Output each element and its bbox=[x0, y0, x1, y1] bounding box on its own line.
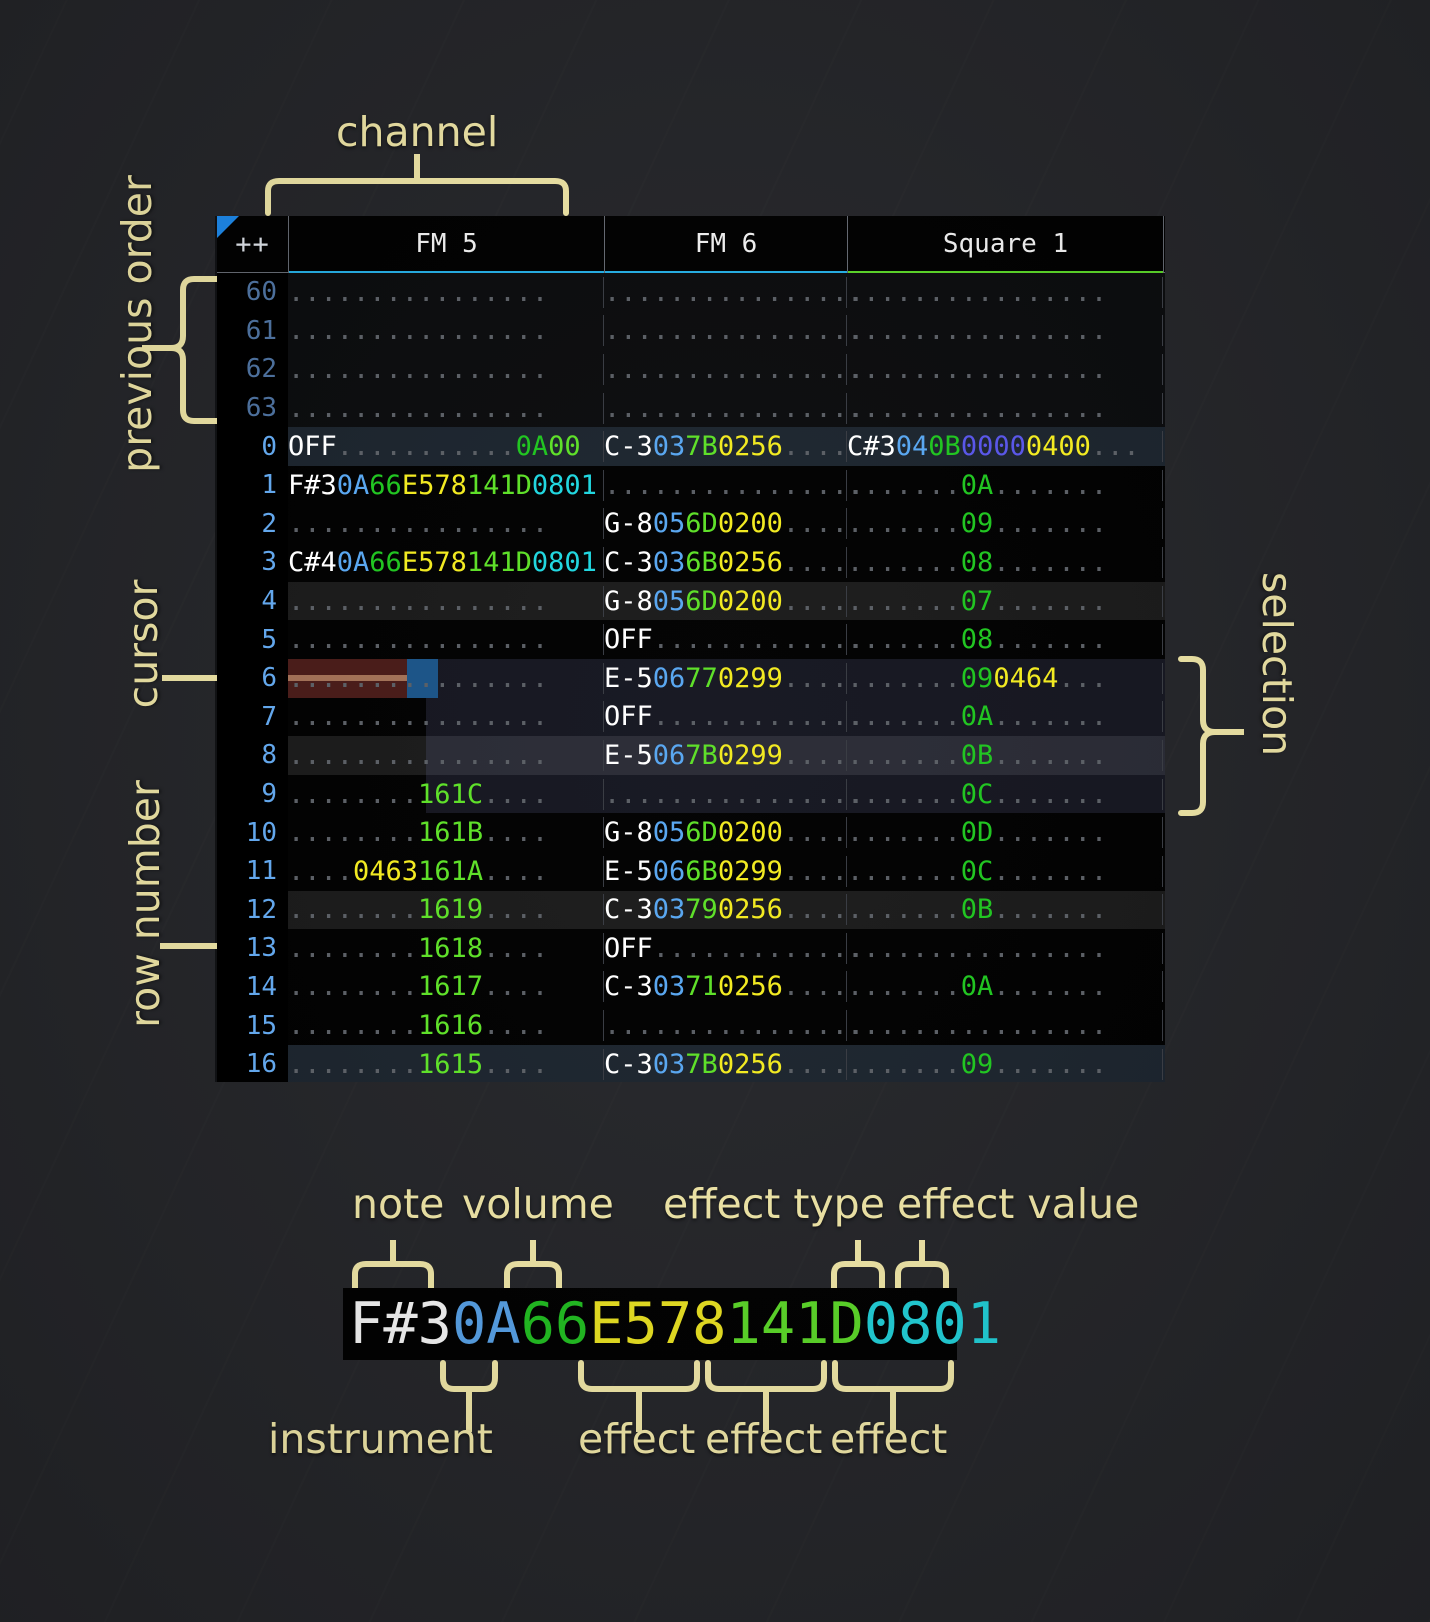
row-number: 6 bbox=[217, 663, 288, 693]
pattern-cell[interactable]: E-5067B0299.... bbox=[604, 740, 847, 771]
cell-token-instrument: 0A bbox=[337, 470, 370, 501]
cell-token-instrument: 04 bbox=[896, 431, 929, 462]
cell-token-effect_yellow: 0463 bbox=[353, 856, 418, 887]
cell-token-dots: ................ bbox=[288, 315, 548, 346]
cell-token-dots: .... bbox=[483, 779, 548, 810]
pattern-cell[interactable]: ................ bbox=[604, 779, 847, 810]
cell-token-effect_green: 141D bbox=[467, 547, 532, 578]
pattern-row[interactable]: 0OFF...........0A00C-3037B0256....C#3040… bbox=[217, 427, 1165, 466]
cell-token-dots: ....... bbox=[847, 586, 961, 617]
pattern-cell[interactable]: OFF...........0A00 bbox=[288, 431, 604, 462]
cell-token-instrument: 0A bbox=[337, 547, 370, 578]
pattern-row[interactable]: 13........1618....OFF...................… bbox=[217, 929, 1165, 968]
pattern-cell[interactable]: ................ bbox=[604, 277, 847, 308]
cell-token-note: F#3 bbox=[288, 470, 337, 501]
cell-token-instrument: 06 bbox=[653, 740, 686, 771]
row-number: 9 bbox=[217, 779, 288, 809]
cell-token-effect_green: 77 bbox=[685, 663, 718, 694]
annotation-previous-order: previous order bbox=[113, 174, 161, 474]
cell-token-effect_yellow: 0256 bbox=[718, 971, 783, 1002]
cell-token-note: E-5 bbox=[604, 663, 653, 694]
row-number: 63 bbox=[217, 393, 288, 423]
cell-token-dots: .... bbox=[783, 817, 848, 848]
cell-token-volume: 07 bbox=[961, 586, 994, 617]
cell-token-volume: 0A bbox=[961, 470, 994, 501]
row-number: 4 bbox=[217, 586, 288, 616]
cell-token-dots: .... bbox=[783, 663, 848, 694]
cell-token-note: E-5 bbox=[604, 740, 653, 771]
cell-token-instrument: 05 bbox=[653, 586, 686, 617]
annotation-row-number: row number bbox=[121, 764, 169, 1044]
cell-token-effect_yellow: 0256 bbox=[718, 1049, 783, 1080]
pattern-cell[interactable]: ....0463161A.... bbox=[288, 856, 604, 887]
cell-token-effect_green: 7B bbox=[685, 1049, 718, 1080]
cell-token-dots: ................ bbox=[847, 1010, 1107, 1041]
pattern-cell[interactable]: ................ bbox=[288, 624, 604, 655]
pattern-row[interactable]: 61......................................… bbox=[217, 312, 1165, 351]
cell-token-effect_yellow: 0299 bbox=[718, 856, 783, 887]
pattern-cell[interactable]: G-8056D0200.... bbox=[604, 508, 847, 539]
cell-token-effect_green: 71 bbox=[685, 971, 718, 1002]
pattern-row[interactable]: 6................E-506770299...........0… bbox=[217, 659, 1165, 698]
row-number: 14 bbox=[217, 972, 288, 1002]
cell-token-effect_green: 1617 bbox=[418, 971, 483, 1002]
cell-token-dots: .... bbox=[483, 894, 548, 925]
cell-token-dots: ........ bbox=[288, 933, 418, 964]
pattern-row[interactable]: 60......................................… bbox=[217, 273, 1165, 312]
cell-token-dots: .... bbox=[783, 856, 848, 887]
cell-token-dots: ....... bbox=[993, 508, 1107, 539]
cell-token-effect_yellow: 0400 bbox=[1026, 431, 1091, 462]
cell-token-dots: ....... bbox=[993, 470, 1107, 501]
pattern-cell[interactable]: .......090464... bbox=[847, 663, 1163, 694]
cell-token-dots: ....... bbox=[847, 856, 961, 887]
cell-token-dots: ................ bbox=[604, 393, 864, 424]
cell-token-dots: .... bbox=[783, 894, 848, 925]
channel-header-label: FM 5 bbox=[415, 229, 478, 259]
cell-token-dots: ....... bbox=[847, 470, 961, 501]
pattern-cell[interactable]: ................ bbox=[288, 277, 604, 308]
row-number: 2 bbox=[217, 509, 288, 539]
row-number: 1 bbox=[217, 470, 288, 500]
cell-token-dots: ................ bbox=[847, 354, 1107, 385]
cell-token-dots: ....... bbox=[993, 894, 1107, 925]
cell-token-dots: ........ bbox=[288, 817, 418, 848]
pattern-cell[interactable]: ................ bbox=[288, 663, 604, 694]
pattern-cell[interactable]: ........1616.... bbox=[288, 1010, 604, 1041]
channel-header-0[interactable]: FM 5 bbox=[289, 216, 605, 272]
channel-header-1[interactable]: FM 6 bbox=[605, 216, 848, 272]
cell-token-effect_green: 161C bbox=[418, 779, 483, 810]
cell-token-dots: ................ bbox=[604, 470, 864, 501]
cell-token-dots: ................ bbox=[604, 354, 864, 385]
cell-token-effect_green: 161B bbox=[418, 817, 483, 848]
cell-token-dots: .... bbox=[483, 817, 548, 848]
detail-token-instrument: 0A bbox=[452, 1291, 521, 1357]
cell-token-dots: ....... bbox=[847, 547, 961, 578]
cell-token-dots: ....... bbox=[993, 701, 1107, 732]
annotation-cursor: cursor bbox=[119, 549, 167, 739]
annotation-selection: selection bbox=[1253, 544, 1301, 784]
pattern-row[interactable]: 4................G-8056D0200...........0… bbox=[217, 582, 1165, 621]
pattern-cell[interactable]: .......08....... bbox=[847, 547, 1163, 578]
cell-token-note: C#4 bbox=[288, 547, 337, 578]
cell-token-effect_yellow: E578 bbox=[402, 470, 467, 501]
pattern-cell[interactable]: .......0C....... bbox=[847, 779, 1163, 810]
cell-token-dots: ....... bbox=[847, 701, 961, 732]
row-number: 3 bbox=[217, 547, 288, 577]
pattern-cell[interactable]: ........1619.... bbox=[288, 894, 604, 925]
cell-token-dots: ............. bbox=[653, 701, 864, 732]
pattern-cell[interactable]: C-3036B0256.... bbox=[604, 547, 847, 578]
detail-token-effect_yellow: E578 bbox=[589, 1291, 726, 1357]
cell-token-effect_yellow: 0256 bbox=[718, 547, 783, 578]
row-number: 11 bbox=[217, 856, 288, 886]
pattern-cell[interactable]: ................ bbox=[288, 393, 604, 424]
cell-token-volume: 0D bbox=[961, 817, 994, 848]
cell-token-note: C-3 bbox=[604, 547, 653, 578]
cell-token-volume: 0B bbox=[928, 431, 961, 462]
cell-token-dots: .... bbox=[783, 547, 848, 578]
cell-token-dots: .... bbox=[483, 1010, 548, 1041]
pattern-row[interactable]: 9........161C...........................… bbox=[217, 775, 1165, 814]
cell-token-volume: 09 bbox=[961, 663, 994, 694]
cell-token-instrument: 05 bbox=[653, 817, 686, 848]
cell-token-effect_green: 1615 bbox=[418, 1049, 483, 1080]
cell-token-note: C-3 bbox=[604, 971, 653, 1002]
pattern-cell[interactable]: ........1618.... bbox=[288, 933, 604, 964]
pattern-cell[interactable]: G-8056D0200.... bbox=[604, 817, 847, 848]
pattern-cell[interactable]: .......0C....... bbox=[847, 856, 1163, 887]
pattern-cell[interactable]: ........161B.... bbox=[288, 817, 604, 848]
pattern-cell[interactable]: G-8056D0200.... bbox=[604, 586, 847, 617]
cell-token-note: OFF bbox=[604, 624, 653, 655]
cell-token-dots: .... bbox=[483, 933, 548, 964]
cell-token-note: G-8 bbox=[604, 817, 653, 848]
row-number: 61 bbox=[217, 316, 288, 346]
pattern-cell[interactable]: ................ bbox=[288, 508, 604, 539]
cell-token-dots: ....... bbox=[847, 1049, 961, 1080]
cell-token-effect_green: 6D bbox=[685, 508, 718, 539]
corner-triangle-icon bbox=[217, 216, 239, 238]
row-number: 0 bbox=[217, 432, 288, 462]
cell-token-volume: 0A bbox=[961, 971, 994, 1002]
pattern-cell[interactable]: ................ bbox=[288, 740, 604, 771]
cell-token-effect_yellow: 0200 bbox=[718, 586, 783, 617]
cell-token-effect_green: 7B bbox=[685, 740, 718, 771]
pattern-header-row: ++ FM 5FM 6Square 1 bbox=[217, 216, 1165, 273]
cell-token-dots: ....... bbox=[847, 894, 961, 925]
cell-token-effect_yellow: E578 bbox=[402, 547, 467, 578]
pattern-row[interactable]: 62......................................… bbox=[217, 350, 1165, 389]
cell-token-effect_yellow: 0200 bbox=[718, 817, 783, 848]
cell-token-dots: ....... bbox=[847, 779, 961, 810]
pattern-cell[interactable]: .......0D....... bbox=[847, 817, 1163, 848]
cell-token-effect_yellow: 0256 bbox=[718, 894, 783, 925]
cell-token-instrument: 06 bbox=[653, 856, 686, 887]
cell-token-dots: ........ bbox=[288, 1010, 418, 1041]
cell-token-effect_yellow: 0299 bbox=[718, 740, 783, 771]
pattern-cell[interactable]: OFF............. bbox=[604, 701, 847, 732]
order-marker-label: ++ bbox=[235, 229, 270, 260]
annotation-effect-3: effect bbox=[830, 1415, 947, 1463]
cell-token-note: E-5 bbox=[604, 856, 653, 887]
cell-token-dots: .... bbox=[483, 971, 548, 1002]
cell-token-volume: 66 bbox=[369, 547, 402, 578]
detail-token-effect_green: 141D bbox=[727, 1291, 864, 1357]
cell-token-dots: ................ bbox=[847, 933, 1107, 964]
pattern-cell[interactable]: ........1617.... bbox=[288, 971, 604, 1002]
cell-token-volume: 09 bbox=[961, 1049, 994, 1080]
annotation-volume: volume bbox=[462, 1180, 614, 1228]
cell-token-dots: ....... bbox=[993, 779, 1107, 810]
cell-token-dots: .... bbox=[783, 971, 848, 1002]
cell-token-effect_green: 6D bbox=[685, 586, 718, 617]
cell-token-dots: ............. bbox=[653, 933, 864, 964]
cell-token-effect_green: 1616 bbox=[418, 1010, 483, 1041]
cell-token-dots: ................ bbox=[288, 508, 548, 539]
cell-token-volume: 0B bbox=[961, 894, 994, 925]
pattern-cell[interactable]: C-303790256.... bbox=[604, 894, 847, 925]
pattern-cell[interactable]: C#3040B00000400... bbox=[847, 431, 1163, 462]
cell-token-effect_green: 79 bbox=[685, 894, 718, 925]
pattern-cell[interactable]: ................ bbox=[847, 933, 1163, 964]
pattern-cell[interactable]: C-3037B0256.... bbox=[604, 431, 847, 462]
cell-token-effect_yellow: 0256 bbox=[718, 431, 783, 462]
detail-token-volume: 66 bbox=[521, 1291, 590, 1357]
cell-token-effect_green: 141D bbox=[467, 470, 532, 501]
pattern-cell[interactable]: .......0B....... bbox=[847, 894, 1163, 925]
cell-token-dots: .... bbox=[783, 1049, 848, 1080]
annotation-effect-2: effect bbox=[705, 1415, 822, 1463]
cell-token-effect_green: 161A bbox=[418, 856, 483, 887]
cell-token-dots: ....... bbox=[847, 624, 961, 655]
cell-token-dots: .... bbox=[783, 431, 848, 462]
cell-token-volume: 0A bbox=[961, 701, 994, 732]
cell-token-dots: .... bbox=[288, 856, 353, 887]
pattern-cell[interactable]: ................ bbox=[847, 354, 1163, 385]
cell-token-note: C-3 bbox=[604, 1049, 653, 1080]
cell-token-volume: 0C bbox=[961, 856, 994, 887]
cell-token-dots: ........ bbox=[288, 971, 418, 1002]
cell-token-effect_green: 00 bbox=[548, 431, 581, 462]
pattern-row[interactable]: 14........1617....C-303710256...........… bbox=[217, 968, 1165, 1007]
cell-token-dots: .... bbox=[783, 740, 848, 771]
pattern-cell[interactable]: .......0A....... bbox=[847, 971, 1163, 1002]
cell-token-volume: 66 bbox=[369, 470, 402, 501]
cell-token-dots: ....... bbox=[993, 586, 1107, 617]
pattern-cell[interactable]: ................ bbox=[288, 701, 604, 732]
pattern-row[interactable]: 7................OFF....................… bbox=[217, 698, 1165, 737]
pattern-cell[interactable]: ................ bbox=[604, 354, 847, 385]
cell-token-note: G-8 bbox=[604, 586, 653, 617]
row-number: 62 bbox=[217, 354, 288, 384]
row-number: 12 bbox=[217, 895, 288, 925]
annotation-selection-bracket bbox=[1178, 656, 1223, 816]
pattern-row[interactable]: 63......................................… bbox=[217, 389, 1165, 428]
cell-token-effect_yellow: 0299 bbox=[718, 663, 783, 694]
pattern-row[interactable]: 1F#30A66E578141D0801....................… bbox=[217, 466, 1165, 505]
cell-token-dots: ........ bbox=[288, 894, 418, 925]
annotation-instrument: instrument bbox=[268, 1415, 493, 1463]
annotation-channel-bracket bbox=[265, 166, 575, 216]
cell-token-dots: ........ bbox=[288, 1049, 418, 1080]
pattern-row[interactable]: 8................E-5067B0299...........0… bbox=[217, 736, 1165, 775]
row-number: 5 bbox=[217, 625, 288, 655]
cell-token-dots: ................ bbox=[288, 701, 548, 732]
cell-token-dots: ....... bbox=[993, 1049, 1107, 1080]
annotation-effect-type: effect type bbox=[663, 1180, 885, 1228]
cell-token-note: C#3 bbox=[847, 431, 896, 462]
pattern-cell[interactable]: ................ bbox=[288, 354, 604, 385]
annotation-channel: channel bbox=[336, 108, 498, 156]
cell-token-dots: ....... bbox=[993, 740, 1107, 771]
cell-token-effect_cyan: 0801 bbox=[532, 470, 597, 501]
cell-token-dots: .... bbox=[483, 856, 548, 887]
pattern-cell[interactable]: ................ bbox=[288, 586, 604, 617]
cell-token-dots: ................ bbox=[288, 354, 548, 385]
cell-token-dots: ....... bbox=[993, 856, 1107, 887]
cell-token-effect_cyan: 0801 bbox=[532, 547, 597, 578]
pattern-row[interactable]: 2................G-8056D0200...........0… bbox=[217, 505, 1165, 544]
cell-token-dots: ........... bbox=[337, 431, 516, 462]
cell-token-dots: ................ bbox=[604, 1010, 864, 1041]
pattern-cell[interactable]: .......08....... bbox=[847, 624, 1163, 655]
pattern-row[interactable]: 5................OFF....................… bbox=[217, 620, 1165, 659]
cell-token-dots: ....... bbox=[993, 817, 1107, 848]
order-marker-cell[interactable]: ++ bbox=[217, 216, 289, 272]
row-number: 16 bbox=[217, 1049, 288, 1079]
cell-token-dots: .... bbox=[783, 508, 848, 539]
pattern-cell[interactable]: .......09....... bbox=[847, 1049, 1163, 1080]
pattern-cell-detail: F#30A66E578141D0801 bbox=[343, 1288, 957, 1360]
cell-token-dots: ....... bbox=[993, 547, 1107, 578]
cell-token-instrument: 03 bbox=[653, 1049, 686, 1080]
cell-token-effect_green: 7B bbox=[685, 431, 718, 462]
pattern-cell[interactable]: C-303710256.... bbox=[604, 971, 847, 1002]
pattern-rows[interactable]: 60......................................… bbox=[217, 273, 1165, 1082]
pattern-cell[interactable]: OFF............. bbox=[604, 624, 847, 655]
row-number: 7 bbox=[217, 702, 288, 732]
cell-token-note: C-3 bbox=[604, 431, 653, 462]
pattern-cell[interactable]: ................ bbox=[847, 277, 1163, 308]
cell-token-dots: ................ bbox=[288, 624, 548, 655]
pattern-cell[interactable]: F#30A66E578141D0801 bbox=[288, 470, 604, 501]
pattern-cell[interactable]: .......07....... bbox=[847, 586, 1163, 617]
cell-token-note: G-8 bbox=[604, 508, 653, 539]
cell-token-dots: ................ bbox=[847, 277, 1107, 308]
pattern-cell[interactable]: C#40A66E578141D0801 bbox=[288, 547, 604, 578]
channel-header-2[interactable]: Square 1 bbox=[848, 216, 1164, 272]
cell-token-dots: ................ bbox=[288, 586, 548, 617]
cell-token-dots: .... bbox=[783, 586, 848, 617]
cell-token-effect_green: 6B bbox=[685, 547, 718, 578]
detail-token-note: F#3 bbox=[349, 1291, 452, 1357]
cell-token-dots: ................ bbox=[288, 663, 548, 694]
cell-token-dots: ....... bbox=[993, 624, 1107, 655]
cell-token-dots: ....... bbox=[847, 663, 961, 694]
cell-token-dots: ................ bbox=[288, 277, 548, 308]
pattern-cell[interactable]: ........1615.... bbox=[288, 1049, 604, 1080]
pattern-cell[interactable]: E-5066B0299.... bbox=[604, 856, 847, 887]
cell-token-dots: ........ bbox=[288, 779, 418, 810]
cell-token-volume: 09 bbox=[961, 508, 994, 539]
cell-token-volume: 08 bbox=[961, 624, 994, 655]
cell-token-instrument: 03 bbox=[653, 894, 686, 925]
pattern-cell[interactable]: ................ bbox=[604, 393, 847, 424]
pattern-cell[interactable]: .......0A....... bbox=[847, 470, 1163, 501]
cell-token-dots: ....... bbox=[847, 817, 961, 848]
cell-token-effect_purple: 0000 bbox=[961, 431, 1026, 462]
pattern-row[interactable]: 3C#40A66E578141D0801C-3036B0256.........… bbox=[217, 543, 1165, 582]
channel-header-label: FM 6 bbox=[695, 229, 758, 259]
pattern-row[interactable]: 11....0463161A....E-5066B0299...........… bbox=[217, 852, 1165, 891]
pattern-cell[interactable]: ........161C.... bbox=[288, 779, 604, 810]
pattern-row[interactable]: 10........161B....G-8056D0200...........… bbox=[217, 813, 1165, 852]
channel-header-label: Square 1 bbox=[943, 229, 1068, 259]
row-number: 10 bbox=[217, 818, 288, 848]
cell-token-dots: ....... bbox=[847, 508, 961, 539]
cell-token-effect_green: 1619 bbox=[418, 894, 483, 925]
cell-token-dots: ................ bbox=[847, 315, 1107, 346]
detail-token-effect_cyan: 0801 bbox=[864, 1291, 1001, 1357]
cell-token-instrument: 03 bbox=[653, 431, 686, 462]
cell-token-dots: ....... bbox=[993, 971, 1107, 1002]
pattern-cell[interactable]: ................ bbox=[847, 315, 1163, 346]
cell-token-effect_yellow: 0200 bbox=[718, 508, 783, 539]
cell-token-dots: ................ bbox=[288, 740, 548, 771]
pattern-row[interactable]: 15........1616..........................… bbox=[217, 1006, 1165, 1045]
cell-token-volume: 0A bbox=[516, 431, 549, 462]
annotation-effect-value: effect value bbox=[897, 1180, 1139, 1228]
pattern-row[interactable]: 12........1619....C-303790256...........… bbox=[217, 891, 1165, 930]
cell-token-dots: ....... bbox=[847, 971, 961, 1002]
cell-token-dots: ... bbox=[1091, 431, 1140, 462]
cell-token-note: OFF bbox=[604, 701, 653, 732]
pattern-cell[interactable]: .......09....... bbox=[847, 508, 1163, 539]
pattern-cell[interactable]: ................ bbox=[604, 470, 847, 501]
cell-token-dots: ............. bbox=[653, 624, 864, 655]
pattern-cell[interactable]: ................ bbox=[604, 315, 847, 346]
pattern-cell[interactable]: ................ bbox=[847, 393, 1163, 424]
cell-token-effect_green: 6D bbox=[685, 817, 718, 848]
cell-token-dots: ................ bbox=[604, 315, 864, 346]
row-number: 60 bbox=[217, 277, 288, 307]
cell-token-instrument: 06 bbox=[653, 663, 686, 694]
pattern-cell[interactable]: ................ bbox=[847, 1010, 1163, 1041]
pattern-cell[interactable]: .......0B....... bbox=[847, 740, 1163, 771]
pattern-cell[interactable]: ................ bbox=[288, 315, 604, 346]
pattern-cell[interactable]: ................ bbox=[604, 1010, 847, 1041]
cell-token-effect_yellow: 0464 bbox=[993, 663, 1058, 694]
annotation-note: note bbox=[352, 1180, 444, 1228]
cell-token-dots: ................ bbox=[288, 393, 548, 424]
pattern-cell[interactable]: .......0A....... bbox=[847, 701, 1163, 732]
cell-token-note: OFF bbox=[604, 933, 653, 964]
cell-token-dots: ... bbox=[1058, 663, 1107, 694]
cell-token-dots: .... bbox=[483, 1049, 548, 1080]
pattern-cell[interactable]: C-3037B0256.... bbox=[604, 1049, 847, 1080]
cell-token-dots: ................ bbox=[604, 277, 864, 308]
cell-token-volume: 0C bbox=[961, 779, 994, 810]
pattern-cell[interactable]: OFF............. bbox=[604, 933, 847, 964]
pattern-row[interactable]: 16........1615....C-3037B0256...........… bbox=[217, 1045, 1165, 1082]
cell-token-effect_green: 6B bbox=[685, 856, 718, 887]
pattern-editor[interactable]: ++ FM 5FM 6Square 1 60..................… bbox=[215, 216, 1165, 1082]
pattern-cell[interactable]: E-506770299.... bbox=[604, 663, 847, 694]
cell-token-effect_green: 1618 bbox=[418, 933, 483, 964]
cell-token-volume: 08 bbox=[961, 547, 994, 578]
